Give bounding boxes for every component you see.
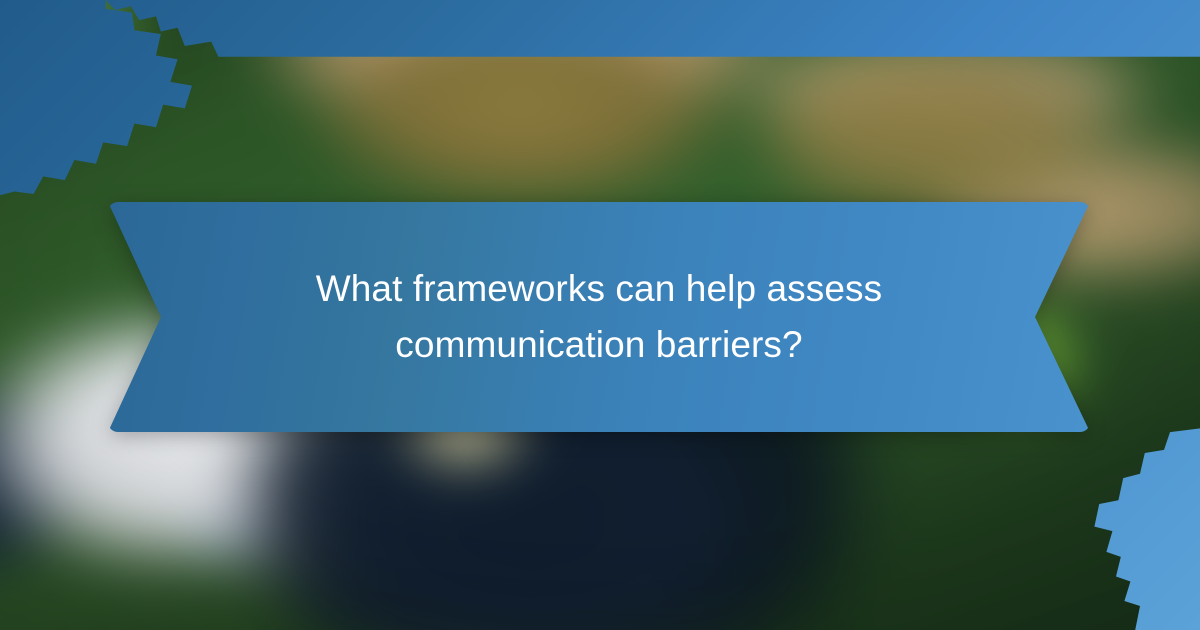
ribbon-text-block: What frameworks can help assess communic…: [108, 202, 1090, 432]
ribbon-banner: What frameworks can help assess communic…: [108, 202, 1090, 432]
ribbon-text-line-1: What frameworks can help assess: [316, 261, 883, 317]
ribbon-text-line-2: communication barriers?: [395, 317, 802, 373]
quote-card: What frameworks can help assess communic…: [0, 0, 1200, 630]
